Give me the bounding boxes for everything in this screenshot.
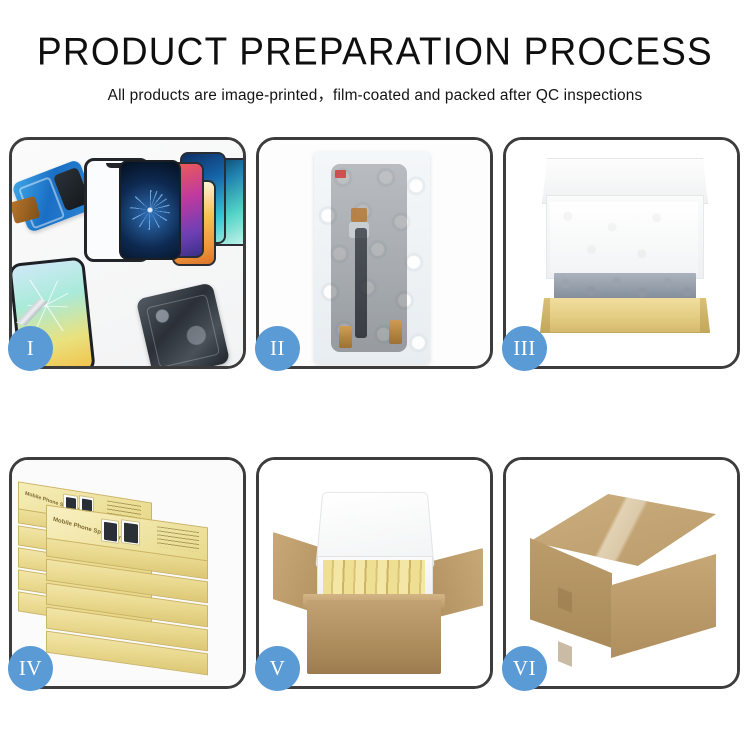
page-subtitle: All products are image-printed，film-coat… bbox=[0, 83, 750, 105]
process-step-grid: I II III bbox=[9, 137, 741, 689]
box-art-phone-f1 bbox=[101, 518, 119, 544]
step-badge-6: VI bbox=[502, 646, 547, 691]
process-step-panel-1[interactable]: I bbox=[9, 137, 246, 369]
carton-body-icon bbox=[307, 600, 441, 674]
page-header: PRODUCT PREPARATION PROCESS All products… bbox=[0, 0, 750, 105]
phone-dark-display-icon bbox=[119, 160, 181, 260]
process-step-panel-6[interactable]: VI bbox=[503, 457, 740, 689]
red-label-icon bbox=[335, 170, 346, 178]
step-badge-5: V bbox=[255, 646, 300, 691]
gold-contact-left-icon bbox=[339, 326, 352, 348]
step-badge-4: IV bbox=[8, 646, 53, 691]
kraft-tray-icon bbox=[540, 298, 710, 333]
white-foam-padding-icon bbox=[550, 202, 698, 274]
step-badge-1: I bbox=[8, 326, 53, 371]
box-spec-lines-front bbox=[157, 526, 199, 552]
step-badge-2: II bbox=[255, 326, 300, 371]
step-badge-3: III bbox=[502, 326, 547, 371]
page-title: PRODUCT PREPARATION PROCESS bbox=[0, 29, 750, 76]
screen-flex-cable-icon bbox=[355, 228, 367, 338]
process-step-panel-4[interactable]: Mobile Phone Spare Parts Mobile Phone Sp… bbox=[9, 457, 246, 689]
process-step-panel-2[interactable]: II bbox=[256, 137, 493, 369]
box-art-phone-f2 bbox=[121, 519, 140, 546]
process-step-panel-3[interactable]: III bbox=[503, 137, 740, 369]
process-step-panel-5[interactable]: V bbox=[256, 457, 493, 689]
gold-connector-icon bbox=[351, 208, 367, 222]
gold-contact-right-icon bbox=[389, 320, 402, 344]
